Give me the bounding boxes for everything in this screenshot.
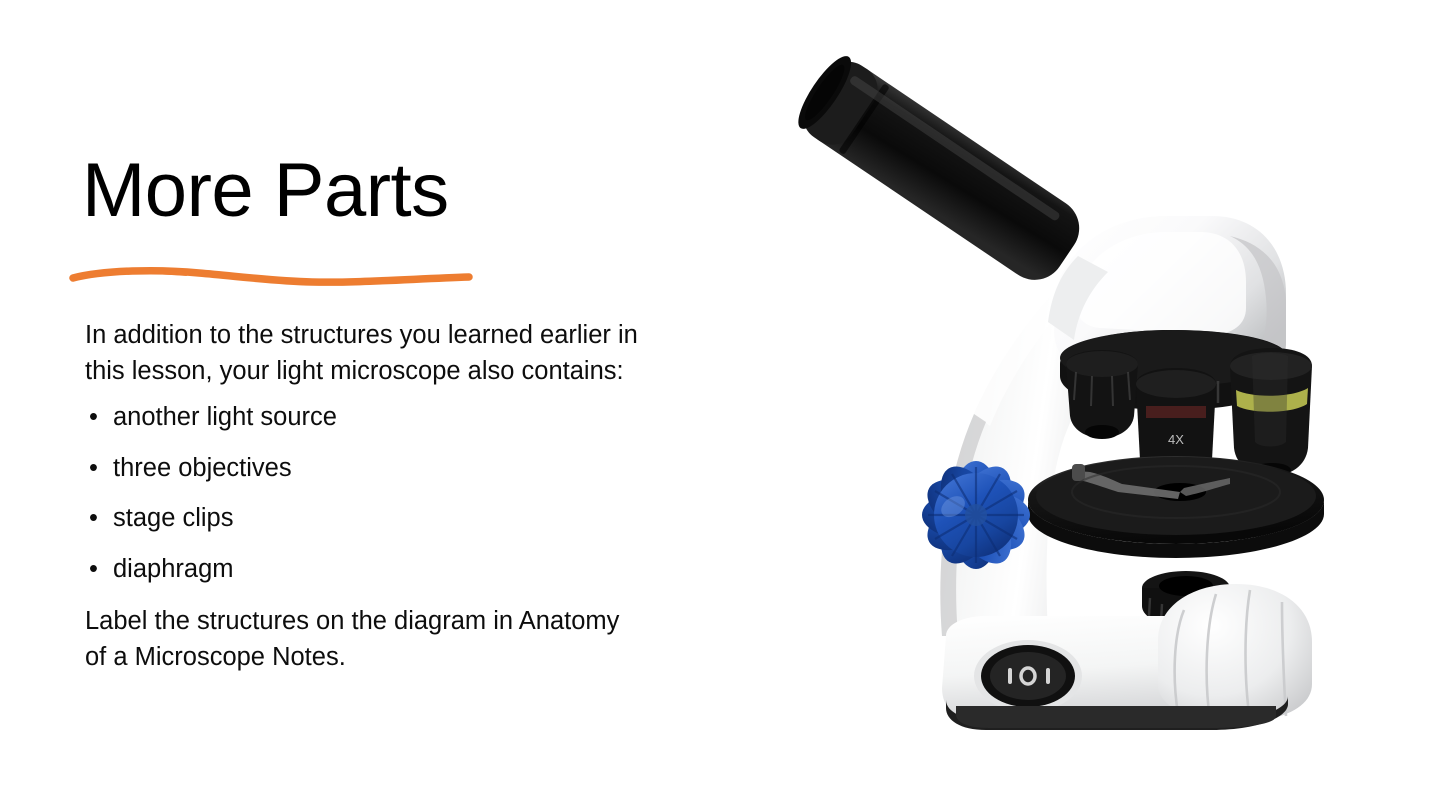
- list-item: • stage clips: [85, 503, 651, 533]
- eyepiece-tube: [790, 50, 1091, 292]
- page-title: More Parts: [82, 146, 449, 236]
- closing-paragraph: Label the structures on the diagram in A…: [85, 604, 645, 675]
- bullet-list: • another light source • three objective…: [85, 402, 651, 584]
- slide-canvas: More Parts In addition to the structures…: [0, 0, 1440, 810]
- list-item: • three objectives: [85, 453, 651, 483]
- list-item-label: another light source: [113, 403, 337, 431]
- body-text-column: In addition to the structures you learne…: [85, 318, 651, 675]
- specimen-stage: [1028, 456, 1324, 558]
- title-underline-accent: [66, 262, 476, 292]
- bullet-marker-icon: •: [89, 402, 98, 432]
- objective-lens-3: [1230, 348, 1312, 477]
- microscope-image: 4X: [760, 40, 1360, 740]
- power-rocker-switch: [974, 640, 1082, 712]
- list-item-label: three objectives: [113, 454, 292, 482]
- objective-lens-1: [1066, 350, 1138, 439]
- list-item: • another light source: [85, 402, 651, 432]
- intro-paragraph: In addition to the structures you learne…: [85, 318, 641, 389]
- list-item-label: diaphragm: [113, 555, 234, 583]
- objective-magnification-label: 4X: [1168, 432, 1184, 447]
- bullet-marker-icon: •: [89, 554, 98, 584]
- bullet-marker-icon: •: [89, 503, 98, 533]
- bullet-marker-icon: •: [89, 453, 98, 483]
- list-item-label: stage clips: [113, 504, 233, 532]
- base-light-dome: [1158, 584, 1312, 722]
- list-item: • diaphragm: [85, 554, 651, 584]
